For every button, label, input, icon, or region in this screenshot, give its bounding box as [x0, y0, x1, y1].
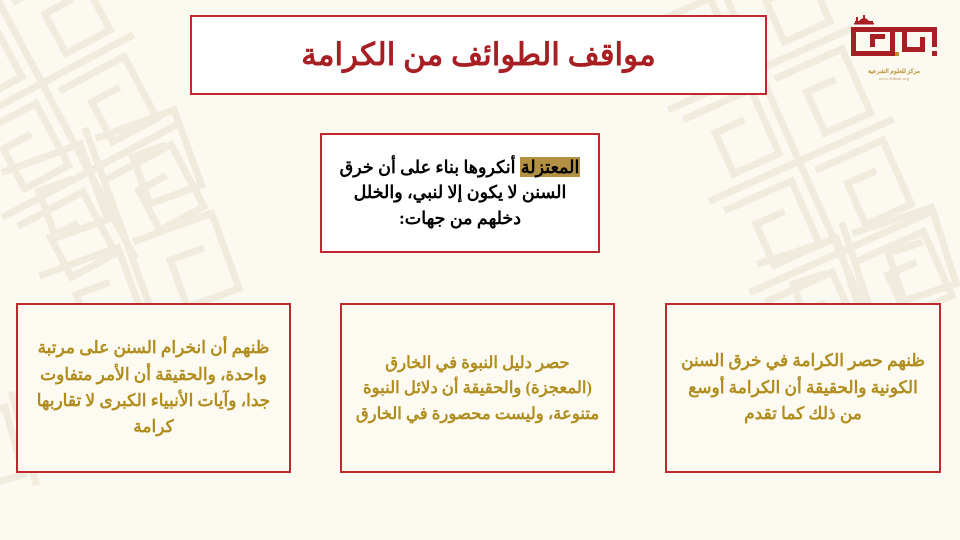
ehkam-logo-icon: [842, 14, 946, 68]
highlighted-term: المعتزلة: [520, 157, 580, 177]
reason-box-2: حصر دليل النبوة في الخارق (المعجزة) والح…: [340, 303, 615, 473]
reason-text-2: حصر دليل النبوة في الخارق (المعجزة) والح…: [352, 350, 603, 427]
reason-box-3: ظنهم حصر الكرامة في خرق السنن الكونية وا…: [665, 303, 941, 473]
reason-box-1: ظنهم أن انخرام السنن على مرتبة واحدة، وا…: [16, 303, 291, 473]
reason-text-3: ظنهم حصر الكرامة في خرق السنن الكونية وا…: [677, 348, 929, 427]
slide-title-box: مواقف الطوائف من الكرامة: [190, 15, 767, 95]
reason-text-1: ظنهم أن انخرام السنن على مرتبة واحدة، وا…: [28, 335, 279, 440]
slide-canvas: مواقف الطوائف من الكرامة: [0, 0, 960, 540]
brand-logo: مركز للعلوم الشرعية www.ehkam.org: [842, 14, 946, 92]
logo-url: www.ehkam.org: [842, 77, 946, 82]
premise-text: المعتزلة أنكروها بناء على أن خرق السنن ل…: [330, 155, 590, 231]
premise-box: المعتزلة أنكروها بناء على أن خرق السنن ل…: [320, 133, 600, 253]
page-title: مواقف الطوائف من الكرامة: [301, 36, 656, 73]
